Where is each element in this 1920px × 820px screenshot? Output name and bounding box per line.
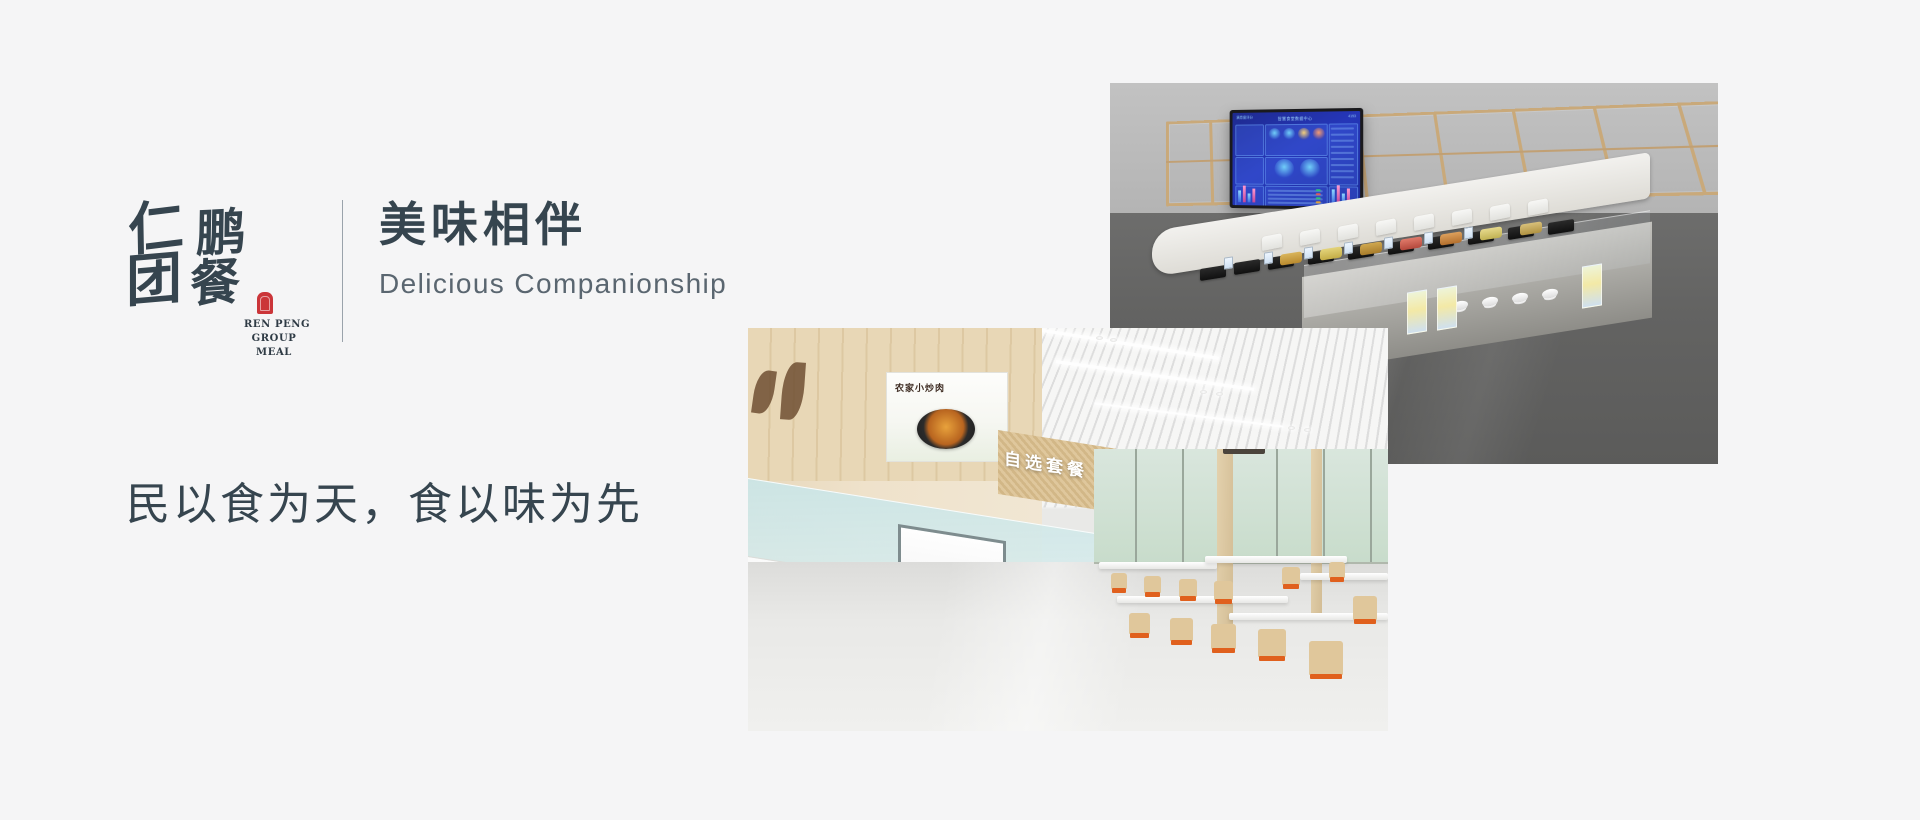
brand-block: 仁 鹏 团 餐 REN PENG GROUP MEAL 美味相伴 Delicio…	[126, 196, 727, 342]
dashboard-screen: 满意度评分 智慧食堂数据中心 4153	[1232, 111, 1360, 207]
logo-char-tuan: 团	[126, 249, 182, 310]
slogan-english: Delicious Companionship	[379, 268, 727, 300]
red-seal-stamp-icon	[257, 292, 273, 314]
brand-logo: 仁 鹏 团 餐 REN PENG GROUP MEAL	[126, 196, 288, 316]
slogan-block: 美味相伴 Delicious Companionship	[379, 196, 727, 300]
logo-english-line-2: GROUP	[244, 332, 304, 346]
hero-banner: 仁 鹏 团 餐 REN PENG GROUP MEAL 美味相伴 Delicio…	[0, 0, 1920, 820]
dashboard-display: 满意度评分 智慧食堂数据中心 4153	[1230, 108, 1364, 210]
menu-poster: 农家小炒肉	[886, 372, 1008, 462]
canteen-interior-photo: 农家小炒肉 自选套餐	[748, 328, 1388, 731]
logo-english-line-1: REN PENG	[244, 318, 304, 332]
logo-english-line-3: MEAL	[244, 346, 304, 360]
logo-english-name: REN PENG GROUP MEAL	[244, 318, 304, 360]
dining-hall-area	[1094, 449, 1388, 731]
logo-char-can: 餐	[189, 256, 241, 310]
dashboard-top-right-label: 4153	[1348, 114, 1356, 118]
slogan-chinese: 美味相伴	[379, 198, 727, 252]
menu-poster-dish-image	[917, 409, 975, 449]
page-tagline: 民以食为天，食以味为先	[126, 468, 643, 532]
dining-hall-windows	[1094, 449, 1388, 564]
self-service-food-counter	[1152, 231, 1652, 339]
menu-poster-title: 农家小炒肉	[895, 381, 945, 394]
dashboard-title: 智慧食堂数据中心	[1232, 115, 1360, 123]
brand-divider	[342, 200, 343, 342]
